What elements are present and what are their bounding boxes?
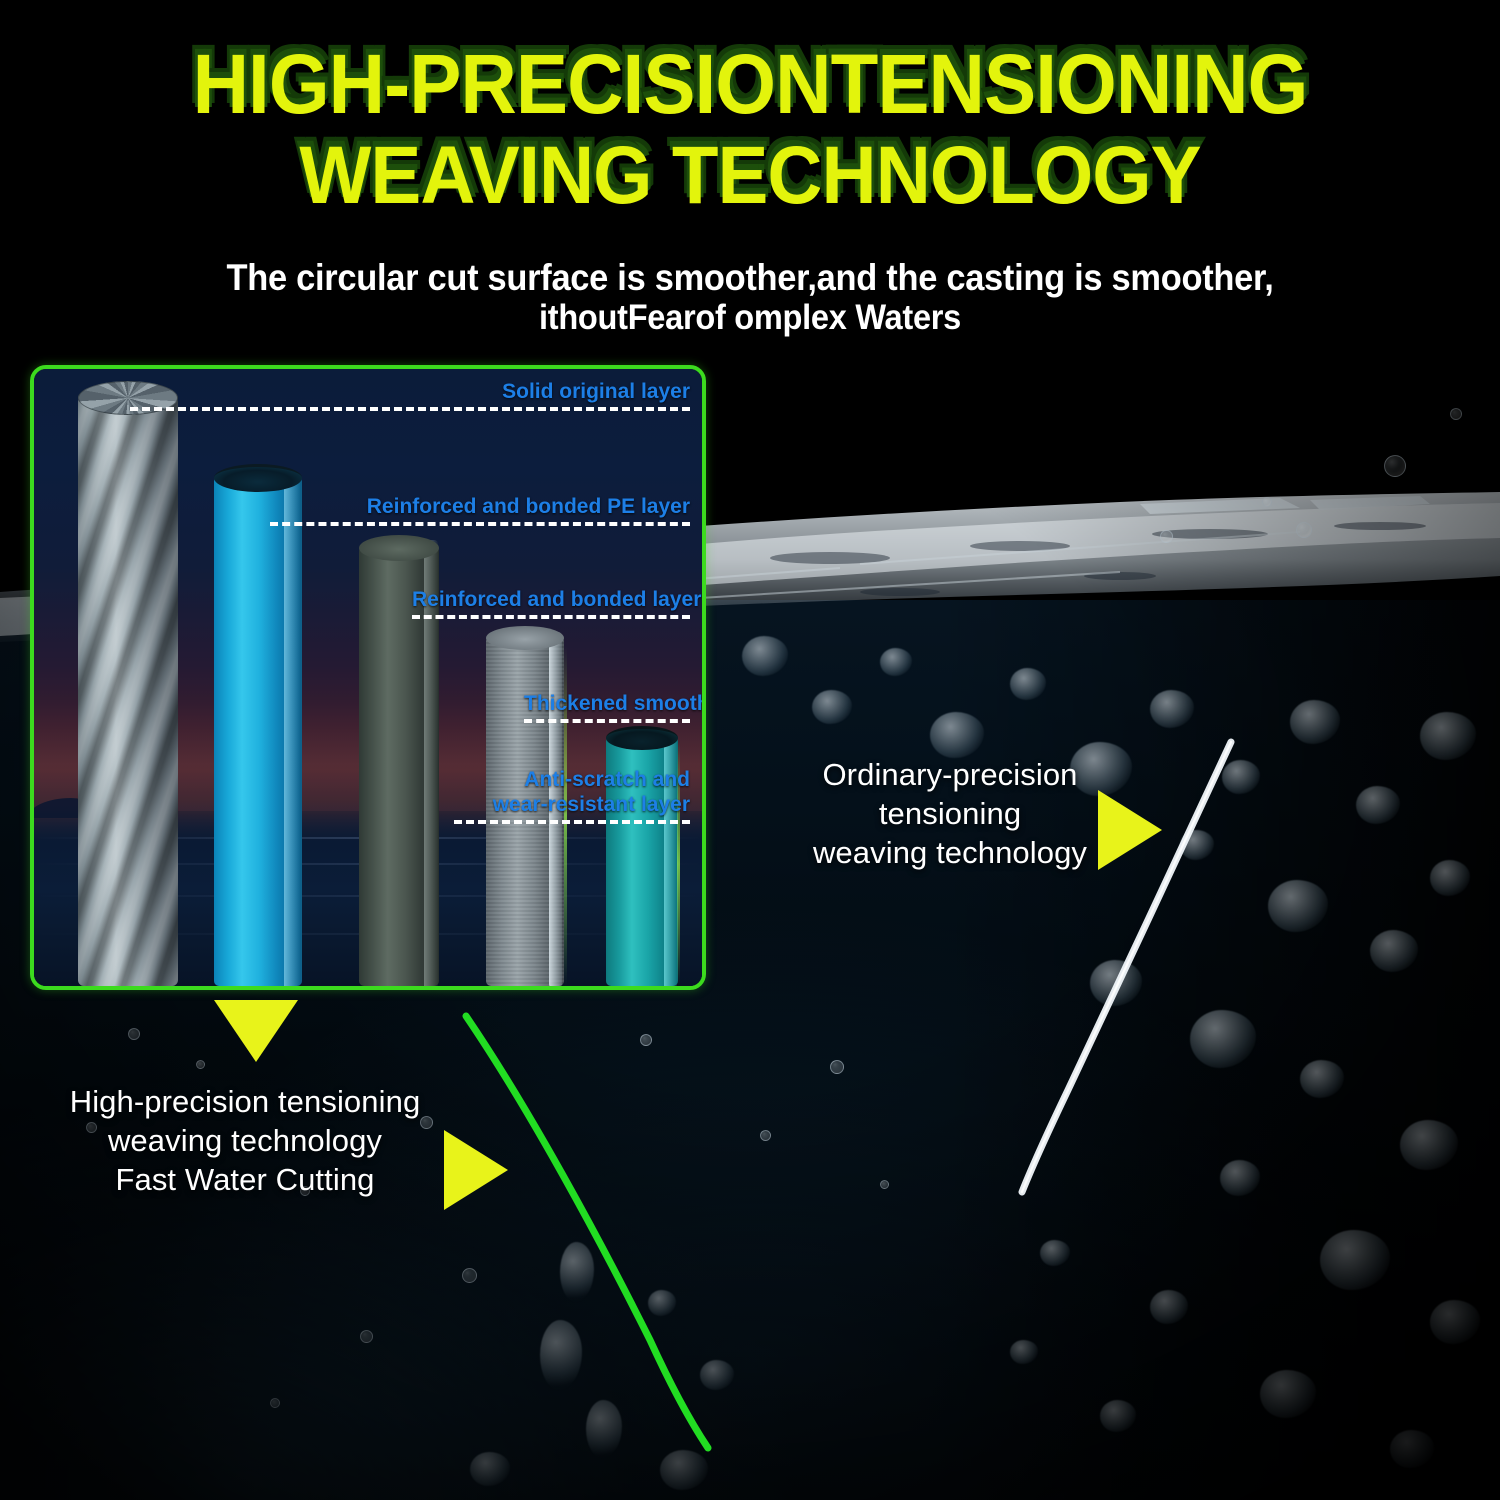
layer-dash-4 [524, 719, 690, 723]
caption-left-line-1: High-precision tensioning [40, 1082, 450, 1121]
caption-ordinary-precision: Ordinary-precision tensioning weaving te… [790, 755, 1110, 872]
layer-label-4: Thickened smooth layer [524, 691, 690, 716]
layer-callout-4: Thickened smooth layer [524, 691, 690, 723]
high-precision-fishing-line [466, 1016, 708, 1448]
layer-callout-5: Anti-scratch and wear-resistant layer [454, 767, 690, 824]
layer-dash-5 [454, 820, 690, 824]
layer-label-5-line1: Anti-scratch and [454, 767, 690, 792]
layer-callout-2: Reinforced and bonded PE layer [270, 494, 690, 526]
cylinder-braided-rope-core [78, 396, 178, 986]
caption-right-line-3: weaving technology [790, 833, 1110, 872]
layer-structure-panel: Solid original layer Reinforced and bond… [30, 365, 706, 990]
caption-right-line-2: tensioning [790, 794, 1110, 833]
layer-dash-1 [130, 407, 690, 411]
arrow-down-icon-panel [214, 1000, 298, 1062]
caption-right-line-1: Ordinary-precision [790, 755, 1110, 794]
layer-dash-3 [412, 615, 690, 619]
layer-label-1: Solid original layer [130, 379, 690, 404]
layer-label-2: Reinforced and bonded PE layer [270, 494, 690, 519]
cylinder-blue-pe-layer [214, 476, 302, 986]
arrow-right-icon-green-line [444, 1130, 508, 1210]
layer-callout-3: Reinforced and bonded layer [412, 587, 690, 619]
caption-high-precision: High-precision tensioning weaving techno… [40, 1082, 450, 1199]
layer-callout-1: Solid original layer [130, 379, 690, 411]
layer-dash-2 [270, 522, 690, 526]
layer-label-5-line2: wear-resistant layer [454, 792, 690, 817]
layer-label-3: Reinforced and bonded layer [412, 587, 690, 612]
caption-left-line-2: weaving technology [40, 1121, 450, 1160]
caption-left-line-3: Fast Water Cutting [40, 1160, 450, 1199]
